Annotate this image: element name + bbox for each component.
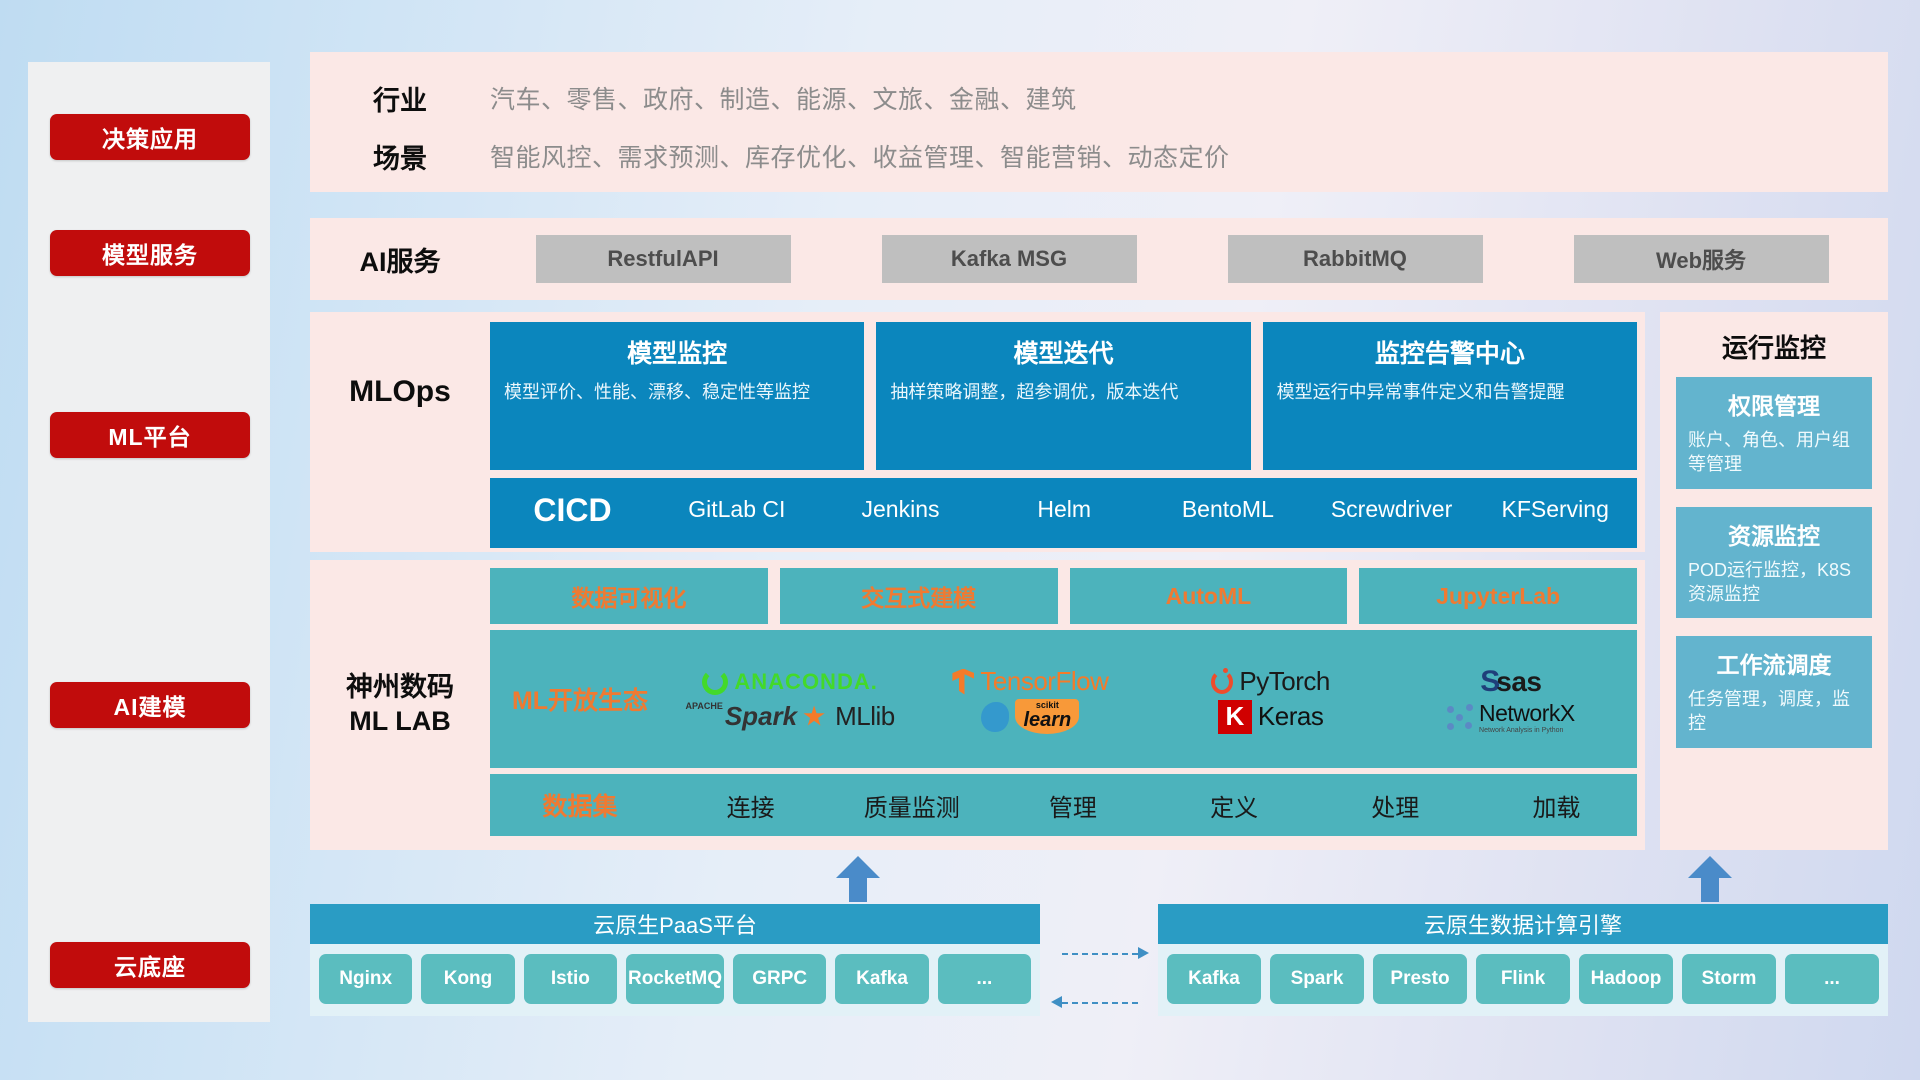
mlops-card-model-iteration[interactable]: 模型迭代 抽样策略调整，超参调优，版本迭代 — [876, 322, 1250, 470]
industry-line: 行业 汽车、零售、政府、制造、能源、文旅、金融、建筑 — [310, 74, 1888, 122]
ai-service-chip-kafka-msg[interactable]: Kafka MSG — [882, 235, 1137, 283]
monitor-card-resource-monitoring[interactable]: 资源监控 POD运行监控，K8S资源监控 — [1676, 507, 1872, 619]
layer-rail: 决策应用 模型服务 ML平台 AI建模 云底座 — [28, 62, 270, 1022]
keras-logo-text: Keras — [1258, 701, 1323, 732]
sidebar-item-model-service[interactable]: 模型服务 — [50, 230, 250, 276]
networkx-subtitle: Network Analysis in Python — [1479, 727, 1563, 734]
card-desc: 抽样策略调整，超参调优，版本迭代 — [890, 380, 1236, 404]
mlops-card-list: 模型监控 模型评价、性能、漂移、稳定性等监控 模型迭代 抽样策略调整，超参调优，… — [490, 322, 1637, 470]
sidebar-item-decision-app[interactable]: 决策应用 — [50, 114, 250, 160]
ai-service-chip-rabbitmq[interactable]: RabbitMQ — [1228, 235, 1483, 283]
cicd-item-screwdriver[interactable]: Screwdriver — [1310, 478, 1474, 524]
pytorch-logo-text: PyTorch — [1239, 666, 1329, 697]
ml-ecosystem-title: ML开放生态 — [490, 681, 670, 717]
networkx-graph-icon — [1447, 704, 1473, 730]
paas-pill-more[interactable]: ... — [938, 954, 1031, 1004]
paas-pill-list: Nginx Kong Istio RocketMQ GRPC Kafka ... — [310, 944, 1040, 1014]
ml-lab-label: 神州数码 ML LAB — [310, 560, 490, 850]
spark-logo-text: Spark — [725, 701, 797, 732]
tensorflow-mark-icon — [952, 669, 974, 695]
ml-lab-band: 神州数码 ML LAB 数据可视化 交互式建模 AutoML JupyterLa… — [310, 560, 1645, 850]
cloud-native-paas-block: 云原生PaaS平台 Nginx Kong Istio RocketMQ GRPC… — [310, 904, 1040, 1016]
sas-logo-text: sas — [1496, 666, 1541, 698]
card-desc: 账户、角色、用户组等管理 — [1688, 428, 1860, 477]
cicd-item-gitlab-ci[interactable]: GitLab CI — [655, 478, 819, 524]
cicd-item-jenkins[interactable]: Jenkins — [819, 478, 983, 524]
scenario-line: 场景 智能风控、需求预测、库存优化、收益管理、智能营销、动态定价 — [310, 132, 1888, 180]
card-title: 资源监控 — [1688, 517, 1860, 551]
paas-pill-rocketmq[interactable]: RocketMQ — [626, 954, 724, 1004]
ai-service-label: AI服务 — [310, 240, 490, 279]
dataset-label: 数据集 — [490, 787, 670, 823]
sidebar-item-label: 模型服务 — [102, 236, 198, 270]
sidebar-item-cloud-base[interactable]: 云底座 — [50, 942, 250, 988]
dataset-item-manage[interactable]: 管理 — [992, 788, 1153, 823]
tab-interactive-modeling[interactable]: 交互式建模 — [780, 568, 1058, 624]
runtime-monitoring-panel: 运行监控 权限管理 账户、角色、用户组等管理 资源监控 POD运行监控，K8S资… — [1660, 312, 1888, 850]
spark-mllib-logo: APACHE Spark MLlib — [686, 701, 895, 732]
ai-service-chip-web-service[interactable]: Web服务 — [1574, 235, 1829, 283]
tab-automl[interactable]: AutoML — [1070, 568, 1348, 624]
data-engine-pill-kafka[interactable]: Kafka — [1167, 954, 1261, 1004]
tab-data-visualization[interactable]: 数据可视化 — [490, 568, 768, 624]
data-engine-pill-hadoop[interactable]: Hadoop — [1579, 954, 1673, 1004]
sidebar-item-label: 云底座 — [114, 948, 186, 982]
card-title: 监控告警中心 — [1375, 334, 1525, 370]
dataset-item-list: 连接 质量监测 管理 定义 处理 加载 — [670, 788, 1637, 823]
card-desc: 模型运行中异常事件定义和告警提醒 — [1277, 380, 1623, 404]
ml-lab-label-line2: ML LAB — [349, 705, 451, 739]
cloud-base-layer: 云原生PaaS平台 Nginx Kong Istio RocketMQ GRPC… — [310, 890, 1888, 1030]
cicd-row: CICD GitLab CI Jenkins Helm BentoML Scre… — [490, 478, 1637, 548]
ai-service-chip-restfulapi[interactable]: RestfulAPI — [536, 235, 791, 283]
anaconda-logo: ANACONDA. — [702, 669, 877, 695]
scikit-learn-logo: scikit learn — [981, 699, 1079, 734]
anaconda-logo-text: ANACONDA. — [734, 669, 877, 695]
paas-pill-kafka[interactable]: Kafka — [835, 954, 928, 1004]
mlops-card-model-monitoring[interactable]: 模型监控 模型评价、性能、漂移、稳定性等监控 — [490, 322, 864, 470]
networkx-logo-text: NetworkX — [1479, 700, 1575, 727]
dataset-item-process[interactable]: 处理 — [1315, 788, 1476, 823]
learn-word: learn — [1023, 709, 1071, 731]
card-title: 工作流调度 — [1688, 646, 1860, 680]
industry-label: 行业 — [310, 79, 490, 118]
mllib-logo-text: MLlib — [835, 701, 895, 732]
architecture-diagram: 决策应用 模型服务 ML平台 AI建模 云底座 行业 汽车、零售、政府、制造、能… — [0, 0, 1920, 1080]
data-engine-pill-more[interactable]: ... — [1785, 954, 1879, 1004]
anaconda-ring-icon — [702, 669, 728, 695]
card-title: 模型迭代 — [1013, 334, 1113, 370]
spark-star-icon — [803, 706, 825, 728]
sidebar-item-label: ML平台 — [108, 418, 191, 452]
data-engine-pill-spark[interactable]: Spark — [1270, 954, 1364, 1004]
dataset-item-quality-monitoring[interactable]: 质量监测 — [831, 788, 992, 823]
data-engine-pill-storm[interactable]: Storm — [1682, 954, 1776, 1004]
card-desc: POD运行监控，K8S资源监控 — [1688, 558, 1860, 607]
sas-logo: S sas — [1480, 665, 1541, 699]
cicd-item-bentoml[interactable]: BentoML — [1146, 478, 1310, 524]
runtime-monitoring-title: 运行监控 — [1660, 312, 1888, 377]
monitor-card-permission-management[interactable]: 权限管理 账户、角色、用户组等管理 — [1676, 377, 1872, 489]
arrow-up-paas-icon — [836, 856, 880, 902]
sidebar-item-ml-platform[interactable]: ML平台 — [50, 412, 250, 458]
industry-value: 汽车、零售、政府、制造、能源、文旅、金融、建筑 — [490, 80, 1077, 116]
paas-pill-kong[interactable]: Kong — [421, 954, 514, 1004]
mlops-label: MLOps — [310, 312, 490, 472]
data-engine-pill-list: Kafka Spark Presto Flink Hadoop Storm ..… — [1158, 944, 1888, 1014]
cloud-native-data-engine-block: 云原生数据计算引擎 Kafka Spark Presto Flink Hadoo… — [1158, 904, 1888, 1016]
ml-ecosystem-logo-grid: ANACONDA. TensorFlow PyTorch S sas APACH… — [670, 664, 1637, 734]
tensorflow-logo-text: TensorFlow — [980, 666, 1108, 697]
card-desc: 任务管理，调度，监控 — [1688, 687, 1860, 736]
arrow-up-data-engine-icon — [1688, 856, 1732, 902]
mlops-band: MLOps 模型监控 模型评价、性能、漂移、稳定性等监控 模型迭代 抽样策略调整… — [310, 312, 1645, 552]
card-desc: 模型评价、性能、漂移、稳定性等监控 — [504, 380, 850, 404]
keras-logo: K Keras — [1218, 700, 1323, 734]
paas-pill-grpc[interactable]: GRPC — [733, 954, 826, 1004]
ai-service-chip-list: RestfulAPI Kafka MSG RabbitMQ Web服务 — [490, 235, 1888, 283]
data-engine-pill-presto[interactable]: Presto — [1373, 954, 1467, 1004]
tensorflow-logo: TensorFlow — [952, 666, 1108, 697]
cloud-native-data-engine-title: 云原生数据计算引擎 — [1158, 904, 1888, 944]
dataset-item-define[interactable]: 定义 — [1154, 788, 1315, 823]
paas-pill-istio[interactable]: Istio — [524, 954, 617, 1004]
dashed-arrow-right-icon — [1138, 947, 1149, 959]
data-engine-pill-flink[interactable]: Flink — [1476, 954, 1570, 1004]
dashed-connector-right — [1062, 953, 1138, 955]
dashed-arrow-left-icon — [1051, 996, 1062, 1008]
ml-ecosystem-panel: ML开放生态 ANACONDA. TensorFlow PyTorch S sa… — [490, 630, 1637, 768]
tab-jupyterlab[interactable]: JupyterLab — [1359, 568, 1637, 624]
monitor-card-workflow-scheduling[interactable]: 工作流调度 任务管理，调度，监控 — [1676, 636, 1872, 748]
ai-service-band: AI服务 RestfulAPI Kafka MSG RabbitMQ Web服务 — [310, 218, 1888, 300]
spark-apache-text: APACHE — [686, 701, 723, 711]
dataset-item-connect[interactable]: 连接 — [670, 788, 831, 823]
scikit-blob-icon — [981, 702, 1009, 732]
cloud-native-paas-title: 云原生PaaS平台 — [310, 904, 1040, 944]
industry-scenario-band: 行业 汽车、零售、政府、制造、能源、文旅、金融、建筑 场景 智能风控、需求预测、… — [310, 52, 1888, 192]
pytorch-flame-icon — [1211, 670, 1233, 694]
mlops-card-alert-center[interactable]: 监控告警中心 模型运行中异常事件定义和告警提醒 — [1263, 322, 1637, 470]
paas-pill-nginx[interactable]: Nginx — [319, 954, 412, 1004]
keras-k-icon: K — [1218, 700, 1252, 734]
sidebar-item-ai-modeling[interactable]: AI建模 — [50, 682, 250, 728]
cicd-item-helm[interactable]: Helm — [982, 478, 1146, 524]
cicd-item-kfserving[interactable]: KFServing — [1473, 478, 1637, 524]
dataset-item-load[interactable]: 加载 — [1476, 788, 1637, 823]
dashed-connector-left — [1062, 1002, 1138, 1004]
dataset-row: 数据集 连接 质量监测 管理 定义 处理 加载 — [490, 774, 1637, 836]
networkx-logo: NetworkX Network Analysis in Python — [1447, 700, 1575, 734]
scikit-learn-logo-text: scikit learn — [1015, 699, 1079, 734]
cicd-item-list: GitLab CI Jenkins Helm BentoML Screwdriv… — [655, 478, 1637, 524]
ml-lab-tab-list: 数据可视化 交互式建模 AutoML JupyterLab — [490, 568, 1637, 624]
pytorch-logo: PyTorch — [1211, 666, 1329, 697]
ml-lab-label-line1: 神州数码 — [346, 671, 454, 705]
sidebar-item-label: AI建模 — [114, 688, 187, 722]
sidebar-item-label: 决策应用 — [102, 120, 198, 154]
card-title: 权限管理 — [1688, 387, 1860, 421]
card-title: 模型监控 — [627, 334, 727, 370]
scenario-label: 场景 — [310, 137, 490, 176]
cicd-label: CICD — [490, 478, 655, 529]
scenario-value: 智能风控、需求预测、库存优化、收益管理、智能营销、动态定价 — [490, 138, 1230, 174]
